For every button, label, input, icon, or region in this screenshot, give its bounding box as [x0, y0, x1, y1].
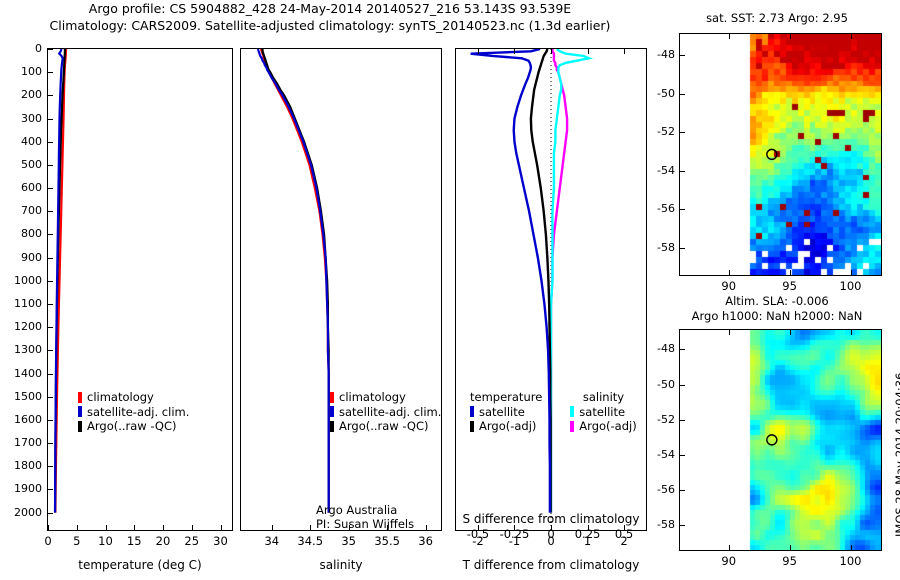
legend-label: Argo(-adj)	[479, 419, 536, 434]
data-series-s-difference-satellite	[551, 49, 589, 513]
axis-tick	[48, 466, 53, 467]
legend-color-swatch	[330, 421, 334, 432]
axis-tick-label: 1700	[2, 436, 42, 449]
axis-tick-label: 1800	[2, 459, 42, 472]
data-series-salinity-satellite-adj-clim-	[258, 49, 329, 513]
axis-tick	[163, 525, 164, 530]
axis-tick-label: -50	[647, 87, 675, 100]
temperature-legend: climatologysatellite-adj. clim.Argo(..ra…	[78, 390, 189, 434]
sla-map-marker	[680, 330, 881, 550]
data-series-salinity-argo-raw-qc-	[263, 49, 329, 513]
axis-tick-label: 900	[2, 251, 42, 264]
axis-tick-label: 2	[596, 534, 652, 548]
axis-tick-label: 800	[2, 227, 42, 240]
axis-tick-label: 400	[2, 135, 42, 148]
axis-tick	[680, 132, 685, 133]
axis-tick-label: -54	[647, 448, 675, 461]
legend-column: salinitysatelliteArgo(-adj)	[570, 390, 636, 434]
axis-tick	[680, 94, 685, 95]
axis-tick	[48, 142, 53, 143]
axis-tick-label: 2000	[2, 506, 42, 519]
legend-label: Argo(..raw -QC)	[339, 419, 429, 434]
axis-tick	[680, 455, 685, 456]
axis-tick-label: 1900	[2, 482, 42, 495]
legend-color-swatch	[570, 406, 574, 417]
axis-tick	[680, 171, 685, 172]
sla-map	[679, 329, 882, 551]
axis-tick-label: -50	[647, 378, 675, 391]
axis-tick	[588, 49, 589, 54]
legend-color-swatch	[570, 421, 574, 432]
axis-tick	[48, 119, 53, 120]
axis-tick	[48, 420, 53, 421]
axis-tick	[272, 525, 273, 530]
axis-tick-label: -48	[647, 342, 675, 355]
legend-entry: satellite-adj. clim.	[78, 405, 189, 420]
axis-tick	[48, 95, 53, 96]
axis-tick-label: 1500	[2, 390, 42, 403]
axis-tick	[48, 211, 53, 212]
temperature-profile-plot	[47, 48, 233, 531]
axis-tick-label: -52	[647, 125, 675, 138]
sla-map-title-line-2: Argo h1000: NaN h2000: NaN	[672, 309, 882, 324]
sla-map-title-line-1: Altim. SLA: -0.006	[672, 294, 882, 309]
axis-tick	[48, 397, 53, 398]
legend-label: Argo(-adj)	[579, 419, 636, 434]
legend-entry: climatology	[78, 390, 189, 405]
axis-tick	[729, 34, 730, 39]
axis-tick	[729, 545, 730, 550]
axis-tick	[790, 270, 791, 275]
axis-tick-label: -58	[647, 518, 675, 531]
axis-tick-label: 1300	[2, 343, 42, 356]
axis-tick	[48, 258, 53, 259]
axis-tick-label: -54	[647, 164, 675, 177]
axis-tick	[48, 350, 53, 351]
axis-tick-label: 700	[2, 204, 42, 217]
axis-tick	[310, 525, 311, 530]
difference-top-axis-label: S difference from climatology	[455, 512, 647, 526]
axis-tick-label: 95	[762, 554, 818, 568]
axis-tick	[48, 188, 53, 189]
difference-profile-curves	[456, 49, 646, 530]
sst-map	[679, 33, 882, 276]
axis-tick-label: 30	[193, 534, 249, 548]
legend-label: climatology	[87, 390, 154, 405]
axis-tick-label: 90	[701, 554, 757, 568]
axis-tick	[48, 525, 49, 530]
legend-column: temperaturesatelliteArgo(-adj)	[470, 390, 542, 434]
axis-tick	[48, 489, 53, 490]
axis-tick	[851, 270, 852, 275]
axis-tick	[680, 490, 685, 491]
credit-line-1: Argo Australia	[316, 503, 414, 517]
title-line-1: Argo profile: CS 5904882_428 24-May-2014…	[0, 0, 660, 17]
legend-column-header: temperature	[470, 390, 542, 405]
axis-tick	[48, 513, 53, 514]
axis-tick-label: 600	[2, 181, 42, 194]
float-position-marker	[767, 149, 777, 159]
sla-map-title: Altim. SLA: -0.006 Argo h1000: NaN h2000…	[672, 294, 882, 324]
legend-label: satellite-adj. clim.	[87, 405, 189, 420]
sst-map-title: sat. SST: 2.73 Argo: 2.95	[672, 11, 882, 26]
axis-tick-label: 200	[2, 88, 42, 101]
axis-tick	[790, 545, 791, 550]
legend-color-swatch	[470, 406, 474, 417]
page-title: Argo profile: CS 5904882_428 24-May-2014…	[0, 0, 660, 34]
difference-bottom-axis-label: T difference from climatology	[455, 558, 647, 572]
axis-tick	[680, 248, 685, 249]
axis-tick	[624, 49, 625, 54]
legend-label: satellite	[579, 405, 625, 420]
title-line-2: Climatology: CARS2009. Satellite-adjuste…	[0, 17, 660, 34]
temperature-profile-curves	[48, 49, 232, 530]
axis-tick-label: -56	[647, 483, 675, 496]
salinity-legend: climatologysatellite-adj. clim.Argo(..ra…	[330, 390, 441, 434]
axis-tick	[77, 525, 78, 530]
axis-tick-label: -48	[647, 48, 675, 61]
axis-tick	[680, 55, 685, 56]
axis-tick	[48, 165, 53, 166]
axis-tick	[790, 34, 791, 39]
axis-tick	[192, 525, 193, 530]
axis-tick	[551, 49, 552, 54]
axis-tick-label: 100	[2, 65, 42, 78]
axis-tick	[48, 304, 53, 305]
credit-line-2: PI: Susan Wijffels	[316, 517, 414, 531]
axis-tick-label: 90	[701, 279, 757, 293]
axis-tick	[680, 209, 685, 210]
temperature-x-axis-label: temperature (deg C)	[47, 558, 233, 572]
axis-tick	[729, 330, 730, 335]
axis-tick-label: 1200	[2, 320, 42, 333]
float-position-marker	[767, 435, 777, 445]
axis-tick	[48, 443, 53, 444]
axis-tick	[48, 72, 53, 73]
axis-tick	[48, 234, 53, 235]
axis-tick-label: 100	[823, 279, 879, 293]
difference-legend: temperaturesatelliteArgo(-adj)salinitysa…	[470, 390, 637, 434]
axis-tick	[729, 270, 730, 275]
axis-tick	[48, 281, 53, 282]
axis-tick-label: 300	[2, 112, 42, 125]
legend-label: climatology	[339, 390, 406, 405]
legend-entry: climatology	[330, 390, 441, 405]
legend-column-header: salinity	[570, 390, 636, 405]
axis-tick	[221, 525, 222, 530]
axis-tick	[680, 385, 685, 386]
salinity-x-axis-label: salinity	[240, 558, 442, 572]
legend-color-swatch	[470, 421, 474, 432]
axis-tick	[134, 525, 135, 530]
axis-tick-label: -56	[647, 202, 675, 215]
axis-tick	[48, 327, 53, 328]
axis-tick-label: 1100	[2, 297, 42, 310]
axis-tick-label: 0	[2, 42, 42, 55]
salinity-profile-plot	[240, 48, 442, 531]
legend-color-swatch	[330, 406, 334, 417]
axis-tick	[790, 330, 791, 335]
legend-entry: satellite-adj. clim.	[330, 405, 441, 420]
credit-block: Argo Australia PI: Susan Wijffels	[316, 503, 414, 531]
axis-tick	[478, 49, 479, 54]
axis-tick-label: 95	[762, 279, 818, 293]
legend-color-swatch	[78, 421, 82, 432]
axis-tick-label: 1000	[2, 274, 42, 287]
legend-label: satellite	[479, 405, 525, 420]
axis-tick-label: 36	[398, 534, 454, 548]
legend-entry: Argo(-adj)	[470, 419, 542, 434]
legend-entry: satellite	[470, 405, 542, 420]
axis-tick	[48, 374, 53, 375]
generation-timestamp: IMOS 28-May-2014 20:04:36	[893, 373, 900, 537]
salinity-profile-curves	[241, 49, 441, 530]
axis-tick	[426, 525, 427, 530]
axis-tick	[680, 349, 685, 350]
axis-tick	[851, 545, 852, 550]
axis-tick	[106, 525, 107, 530]
legend-label: Argo(..raw -QC)	[87, 419, 177, 434]
difference-profile-plot	[455, 48, 647, 531]
axis-tick	[680, 420, 685, 421]
legend-entry: Argo(..raw -QC)	[330, 419, 441, 434]
sst-map-marker	[680, 34, 881, 275]
axis-tick-label: -52	[647, 413, 675, 426]
legend-label: satellite-adj. clim.	[339, 405, 441, 420]
legend-entry: satellite	[570, 405, 636, 420]
axis-tick-label: 100	[823, 554, 879, 568]
axis-tick	[48, 49, 53, 50]
axis-tick	[680, 525, 685, 526]
axis-tick	[851, 34, 852, 39]
data-series-t-difference-satellite	[471, 49, 550, 513]
axis-tick	[851, 330, 852, 335]
legend-color-swatch	[78, 406, 82, 417]
axis-tick-label: -58	[647, 241, 675, 254]
legend-entry: Argo(..raw -QC)	[78, 419, 189, 434]
axis-tick-label: 1400	[2, 367, 42, 380]
legend-entry: Argo(-adj)	[570, 419, 636, 434]
axis-tick-label: 500	[2, 158, 42, 171]
legend-color-swatch	[78, 392, 82, 403]
axis-tick-label: 1600	[2, 413, 42, 426]
axis-tick	[514, 49, 515, 54]
legend-color-swatch	[330, 392, 334, 403]
